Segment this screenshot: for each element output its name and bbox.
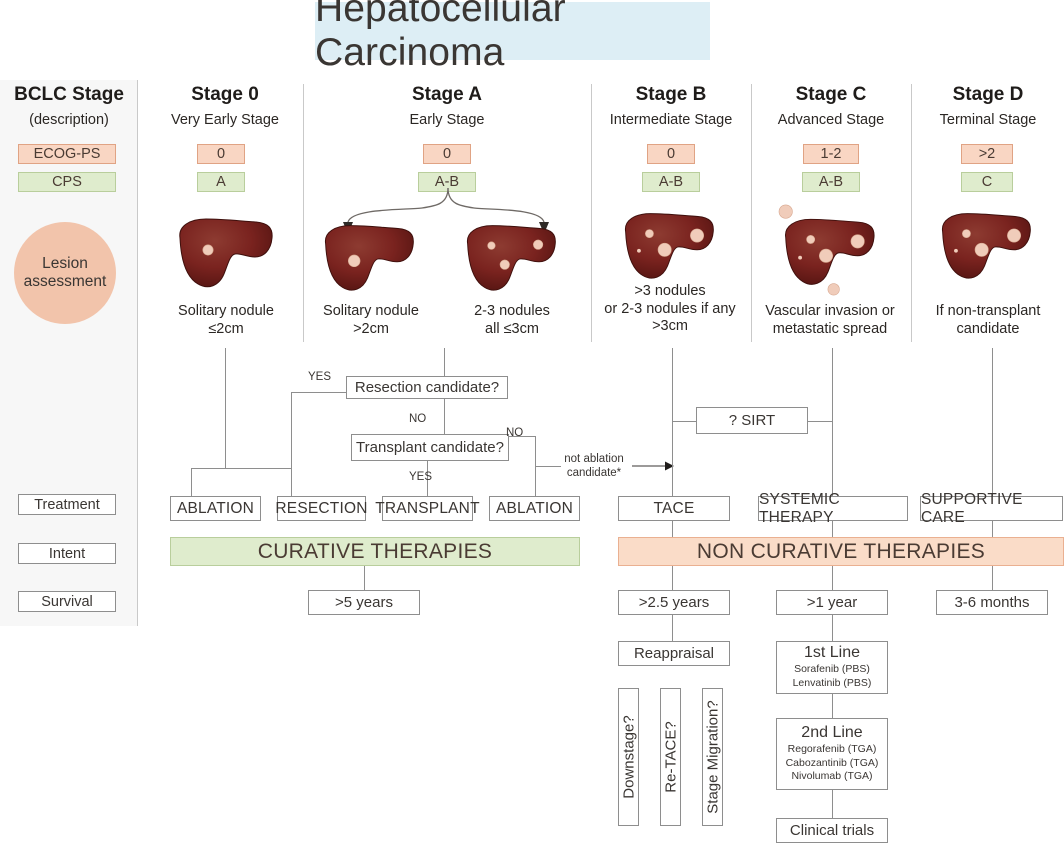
connector-supportive-band-to-survival [992,566,993,590]
followup-downstage-label: Downstage? [620,715,637,798]
treatment-systemic-therapy[interactable]: SYSTEMIC THERAPY [758,496,908,521]
stage-d-title: Stage D [913,84,1063,106]
stage-0-cps-badge: A [197,172,245,192]
row-label-treatment: Treatment [18,494,116,515]
connector-sirt-left [672,421,696,422]
connector-systemic-to-band [832,521,833,537]
systemic-1st-line-drug-1: Lenvatinib (PBS) [793,677,872,691]
treatment-ablation-2-label: ABLATION [496,500,573,518]
description-stage-a-solitary: Solitary nodule >2cm [308,303,434,338]
survival-systemic-label: >1 year [807,594,857,611]
stage-c-ecog-badge: 1-2 [803,144,859,164]
stage-b-cps-badge: A-B [642,172,700,192]
decision-transplant-candidate-label: Transplant candidate? [356,439,504,456]
connector-supportive-to-band [992,521,993,537]
column-divider-a-b [591,84,592,342]
survival-tace[interactable]: >2.5 years [618,590,730,615]
followup-reappraisal-label: Reappraisal [634,645,714,662]
row-label-survival: Survival [18,591,116,612]
treatment-ablation-1-label: ABLATION [177,500,254,518]
connector-ablation1-down [191,468,192,496]
liver-icon-stage-c [772,203,880,297]
survival-supportive-label: 3-6 months [954,594,1029,611]
stage-a-subtitle: Early Stage [372,112,522,128]
column-divider-0-a [303,84,304,342]
connector-stageA-to-resection [444,348,445,376]
stage-b-ecog-value: 0 [667,146,675,162]
connector-tace-to-reappraisal [672,615,673,641]
intent-band-curative: CURATIVE THERAPIES [170,537,580,566]
intent-band-curative-label: CURATIVE THERAPIES [258,540,493,564]
stage-a-split-brace [330,186,560,242]
connector-stageC-down [832,348,833,496]
connector-curative-to-survival [364,566,365,590]
stage-c-ecog-value: 1-2 [821,146,842,162]
treatment-ablation-1[interactable]: ABLATION [170,496,261,521]
liver-icon-stage-b [618,205,718,287]
intent-band-non-curative-label: NON CURATIVE THERAPIES [697,540,985,564]
followup-stage-migration-box[interactable]: Stage Migration? [702,688,723,826]
stage-a-ecog-value: 0 [443,146,451,162]
systemic-1st-line-drug-0: Sorafenib (PBS) [794,663,870,677]
stage-a-title: Stage A [372,84,522,106]
legend-ecog-ps: ECOG-PS [18,144,116,164]
connector-stage0-down [225,348,226,468]
stage-d-subtitle: Terminal Stage [913,112,1063,128]
row-label-intent: Intent [18,543,116,564]
row-label-treatment-text: Treatment [34,497,100,513]
connector-systemic-to-1st-line [832,615,833,641]
stage-c-cps-badge: A-B [802,172,860,192]
treatment-ablation-2[interactable]: ABLATION [489,496,580,521]
label-no-transplant: NO [506,427,523,439]
legend-cps: CPS [18,172,116,192]
stage-c-subtitle: Advanced Stage [756,112,906,128]
liver-icon-stage-0 [172,212,277,294]
label-yes-resection: YES [308,371,331,383]
treatment-tace-label: TACE [654,500,695,518]
connector-stageD-down [992,348,993,496]
label-yes-transplant: YES [409,471,432,483]
description-stage-c: Vascular invasion or metastatic spread [753,303,907,338]
decision-sirt[interactable]: ? SIRT [696,407,808,434]
treatment-resection-label: RESECTION [275,500,367,518]
treatment-transplant-label: TRANSPLANT [375,500,480,518]
systemic-2nd-line-box[interactable]: 2nd Line Regorafenib (TGA) Cabozantinib … [776,718,888,790]
connector-systemic-band-to-survival [832,566,833,590]
row-label-intent-text: Intent [49,546,85,562]
stage-d-ecog-value: >2 [979,146,996,162]
stage-0-subtitle: Very Early Stage [150,112,300,128]
row-label-survival-text: Survival [41,594,93,610]
systemic-2nd-line-drug-0: Regorafenib (TGA) [788,743,877,757]
survival-curative-label: >5 years [335,594,393,611]
connector-2nd-line-to-trials [832,790,833,818]
connector-resection-down [291,420,292,496]
treatment-resection[interactable]: RESECTION [277,496,366,521]
stage-d-cps-badge: C [961,172,1013,192]
connector-stage0-split [191,468,291,469]
systemic-2nd-line-drug-2: Nivolumab (TGA) [791,770,872,784]
page-title: Hepatocellular Carcinoma [315,0,710,75]
page-title-banner: Hepatocellular Carcinoma [315,2,710,60]
survival-tace-label: >2.5 years [639,594,709,611]
column-divider-b-c [751,84,752,342]
clinical-trials-label: Clinical trials [790,822,874,839]
followup-re-tace-label: Re-TACE? [662,721,679,792]
liver-icon-stage-d [935,205,1035,287]
decision-sirt-label: ? SIRT [729,412,775,429]
decision-resection-candidate-label: Resection candidate? [355,379,499,396]
stage-a-ecog-badge: 0 [423,144,471,164]
label-not-ablation-candidate: not ablation candidate* [556,452,632,481]
column-divider-c-d [911,84,912,342]
decision-resection-candidate[interactable]: Resection candidate? [346,376,508,399]
systemic-1st-line-box[interactable]: 1st Line Sorafenib (PBS) Lenvatinib (PBS… [776,641,888,694]
arrow-not-ablation-to-tace [632,460,676,472]
treatment-transplant[interactable]: TRANSPLANT [382,496,473,521]
lesion-assessment-label: Lesion assessment [14,255,116,292]
systemic-2nd-line-drug-1: Cabozantinib (TGA) [786,757,879,771]
description-stage-d: If non-transplant candidate [913,303,1063,338]
connector-sirt-right [808,421,832,422]
followup-downstage-box[interactable]: Downstage? [618,688,639,826]
systemic-2nd-line-header: 2nd Line [801,724,862,742]
legend-ecog-ps-label: ECOG-PS [34,146,101,162]
label-no-resection: NO [409,413,426,425]
stage-b-subtitle: Intermediate Stage [596,112,746,128]
survival-curative[interactable]: >5 years [308,590,420,615]
stage-c-cps-value: A-B [819,174,843,190]
treatment-tace[interactable]: TACE [618,496,730,521]
clinical-trials-box[interactable]: Clinical trials [776,818,888,843]
stage-b-cps-value: A-B [659,174,683,190]
stage-c-title: Stage C [756,84,906,106]
legend-cps-label: CPS [52,174,82,190]
survival-systemic[interactable]: >1 year [776,590,888,615]
survival-supportive[interactable]: 3-6 months [936,590,1048,615]
stage-0-ecog-badge: 0 [197,144,245,164]
intent-band-non-curative: NON CURATIVE THERAPIES [618,537,1064,566]
stage-d-ecog-badge: >2 [961,144,1013,164]
connector-resection-yes-down [291,392,292,420]
stage-d-cps-value: C [982,174,992,190]
decision-transplant-candidate[interactable]: Transplant candidate? [351,434,509,461]
stage-b-title: Stage B [596,84,746,106]
lesion-assessment-circle: Lesion assessment [14,222,116,324]
stage-0-cps-value: A [216,174,226,190]
followup-reappraisal[interactable]: Reappraisal [618,641,730,666]
sidebar-heading: BCLC Stage [0,84,138,106]
connector-tace-to-band [672,521,673,537]
connector-resection-yes [291,392,346,393]
connector-1st-to-2nd-line [832,694,833,718]
description-stage-b: >3 nodules or 2-3 nodules if any >3cm [594,283,746,336]
sidebar-subheading: (description) [0,112,138,128]
stage-0-ecog-value: 0 [217,146,225,162]
followup-re-tace-box[interactable]: Re-TACE? [660,688,681,826]
description-stage-a-multinodular: 2-3 nodules all ≤3cm [447,303,577,338]
stage-0-title: Stage 0 [150,84,300,106]
followup-stage-migration-label: Stage Migration? [704,700,721,813]
treatment-supportive-care[interactable]: SUPPORTIVE CARE [920,496,1063,521]
treatment-systemic-therapy-label: SYSTEMIC THERAPY [759,491,907,527]
stage-b-ecog-badge: 0 [647,144,695,164]
description-stage-0: Solitary nodule ≤2cm [150,303,302,338]
systemic-1st-line-header: 1st Line [804,644,860,662]
connector-stageB-down [672,348,673,496]
connector-tace-band-to-survival [672,566,673,590]
